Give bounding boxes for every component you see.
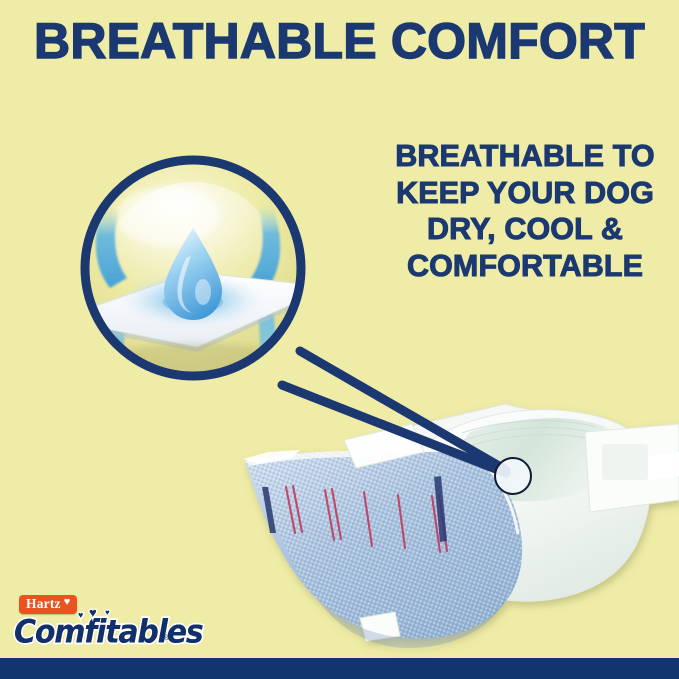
registered-trademark: ® (164, 635, 169, 642)
bottom-bar (0, 658, 679, 679)
logo-heart-icon-2: ♥ (89, 606, 97, 619)
callout-target-circle (495, 458, 531, 494)
comfitables-text-fill: Comfitables (14, 617, 203, 649)
hartz-badge: Hartz ♥ (19, 595, 77, 614)
diaper-fastening-tab (585, 424, 679, 512)
logo-heart-icon-3: ♥ (105, 609, 110, 617)
product-marketing-image: BREATHABLE COMFORT BREATHABLE TO KEEP YO… (0, 0, 679, 679)
brand-logo: Hartz ♥ Comfitables Comfitables ♥ ♥ ♥ ® (10, 595, 180, 653)
logo-heart-icon-1: ♥ (78, 611, 83, 620)
magnifier-callout (58, 160, 330, 394)
comfitables-wordmark: Comfitables Comfitables ♥ ♥ ♥ ® (10, 613, 180, 653)
hartz-wordmark: Hartz (26, 597, 61, 611)
illustration-scene (0, 0, 679, 679)
diaper-denim-shell (243, 450, 522, 648)
heart-icon: ♥ (64, 597, 71, 608)
